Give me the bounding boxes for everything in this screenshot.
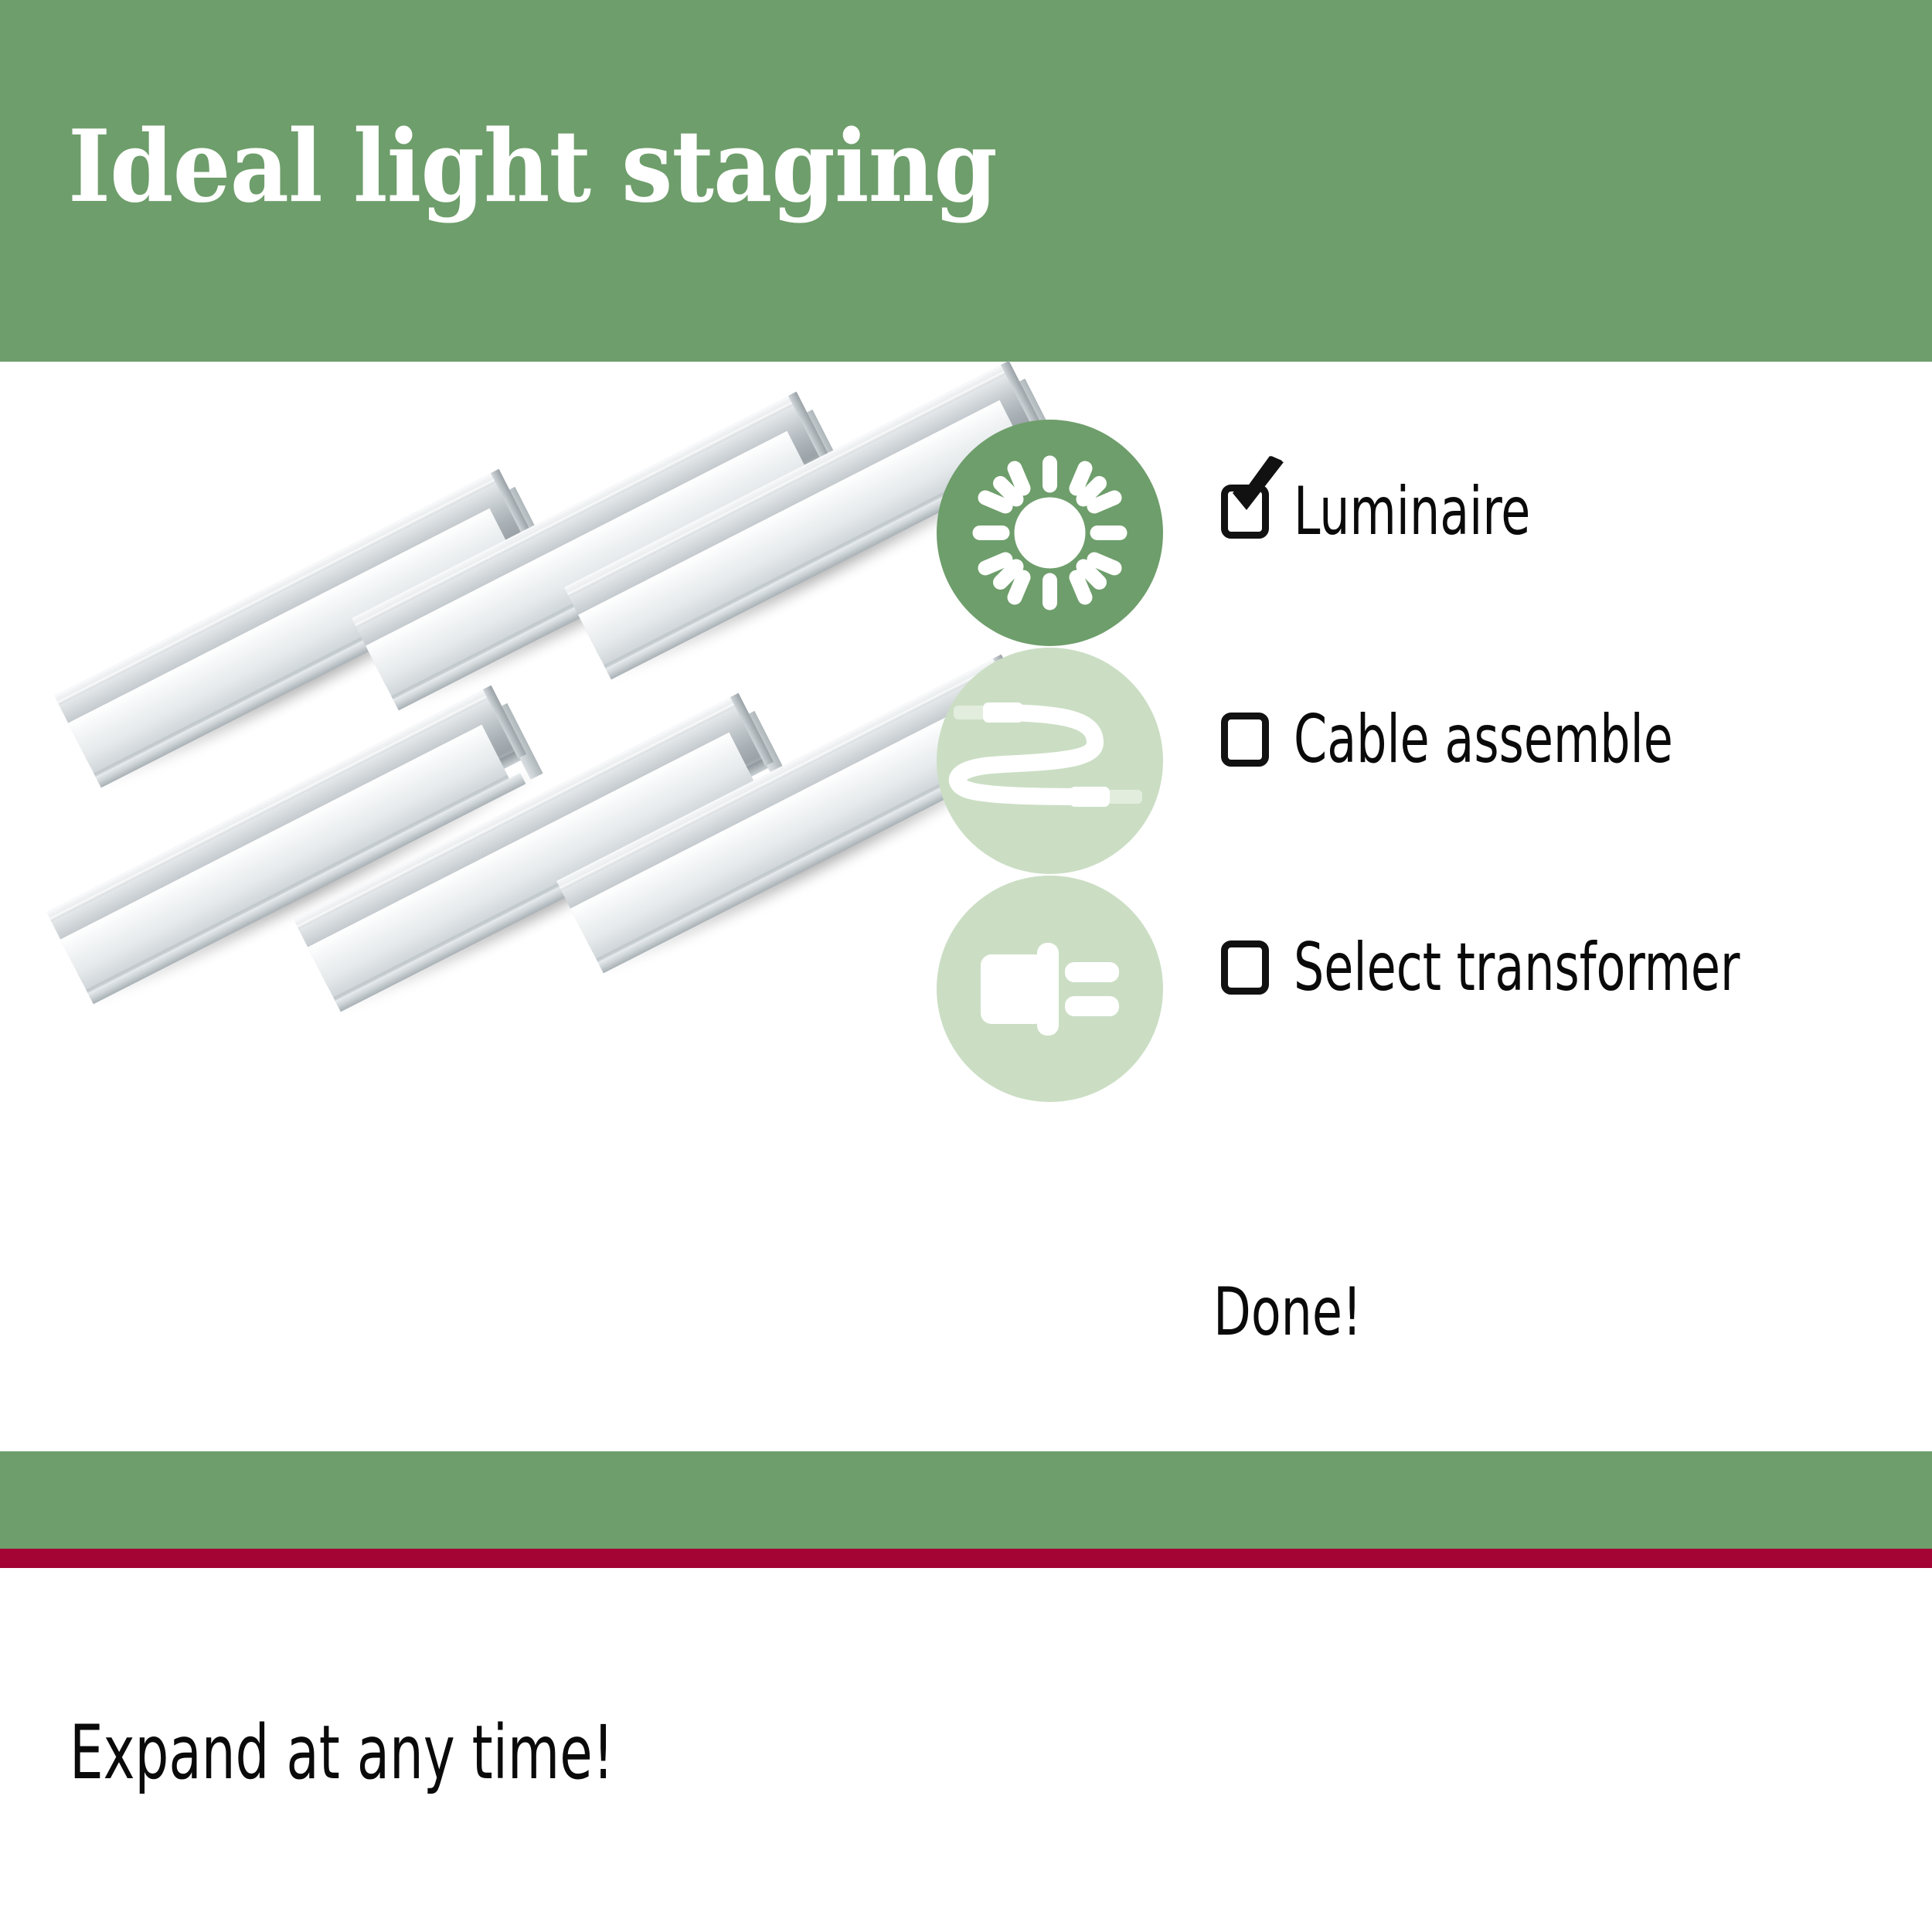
plug-icon-badge [937,876,1163,1102]
checklist-item-label: Cable assemble [1294,706,1673,773]
checklist-label-group[interactable]: Cable assemble [1221,706,1768,773]
checklist: Luminaire Cable assemble [937,420,1926,1104]
product-image [23,556,935,1283]
cable-icon [937,648,1163,874]
checklist-row-luminaire[interactable]: Luminaire [937,420,1926,648]
sun-icon [937,420,1163,646]
sun-icon-badge [937,420,1163,646]
checklist-label-group[interactable]: Select transformer [1221,934,1852,1001]
checklist-row-cable[interactable]: Cable assemble [937,648,1926,876]
page-title: Ideal light staging [68,117,997,216]
checkbox-luminaire[interactable] [1221,485,1269,539]
checkmark-icon [1222,456,1288,522]
footer-green-band [0,1451,1932,1549]
checkbox-cable-assemble[interactable] [1221,713,1269,767]
header-band: Ideal light staging [0,0,1932,362]
done-label: Done! [1213,1274,1362,1351]
checklist-label-group[interactable]: Luminaire [1221,478,1590,545]
cable-icon-badge [937,648,1163,874]
checklist-row-transformer[interactable]: Select transformer [937,876,1926,1104]
checkbox-select-transformer[interactable] [1221,940,1269,995]
checklist-item-label: Luminaire [1294,478,1530,545]
plug-icon [937,876,1163,1102]
footer-caption: Expand at any time! [70,1709,614,1796]
promo-infographic-page: Ideal light staging [0,0,1932,1932]
footer-red-band [0,1549,1932,1568]
checklist-item-label: Select transformer [1294,934,1740,1001]
